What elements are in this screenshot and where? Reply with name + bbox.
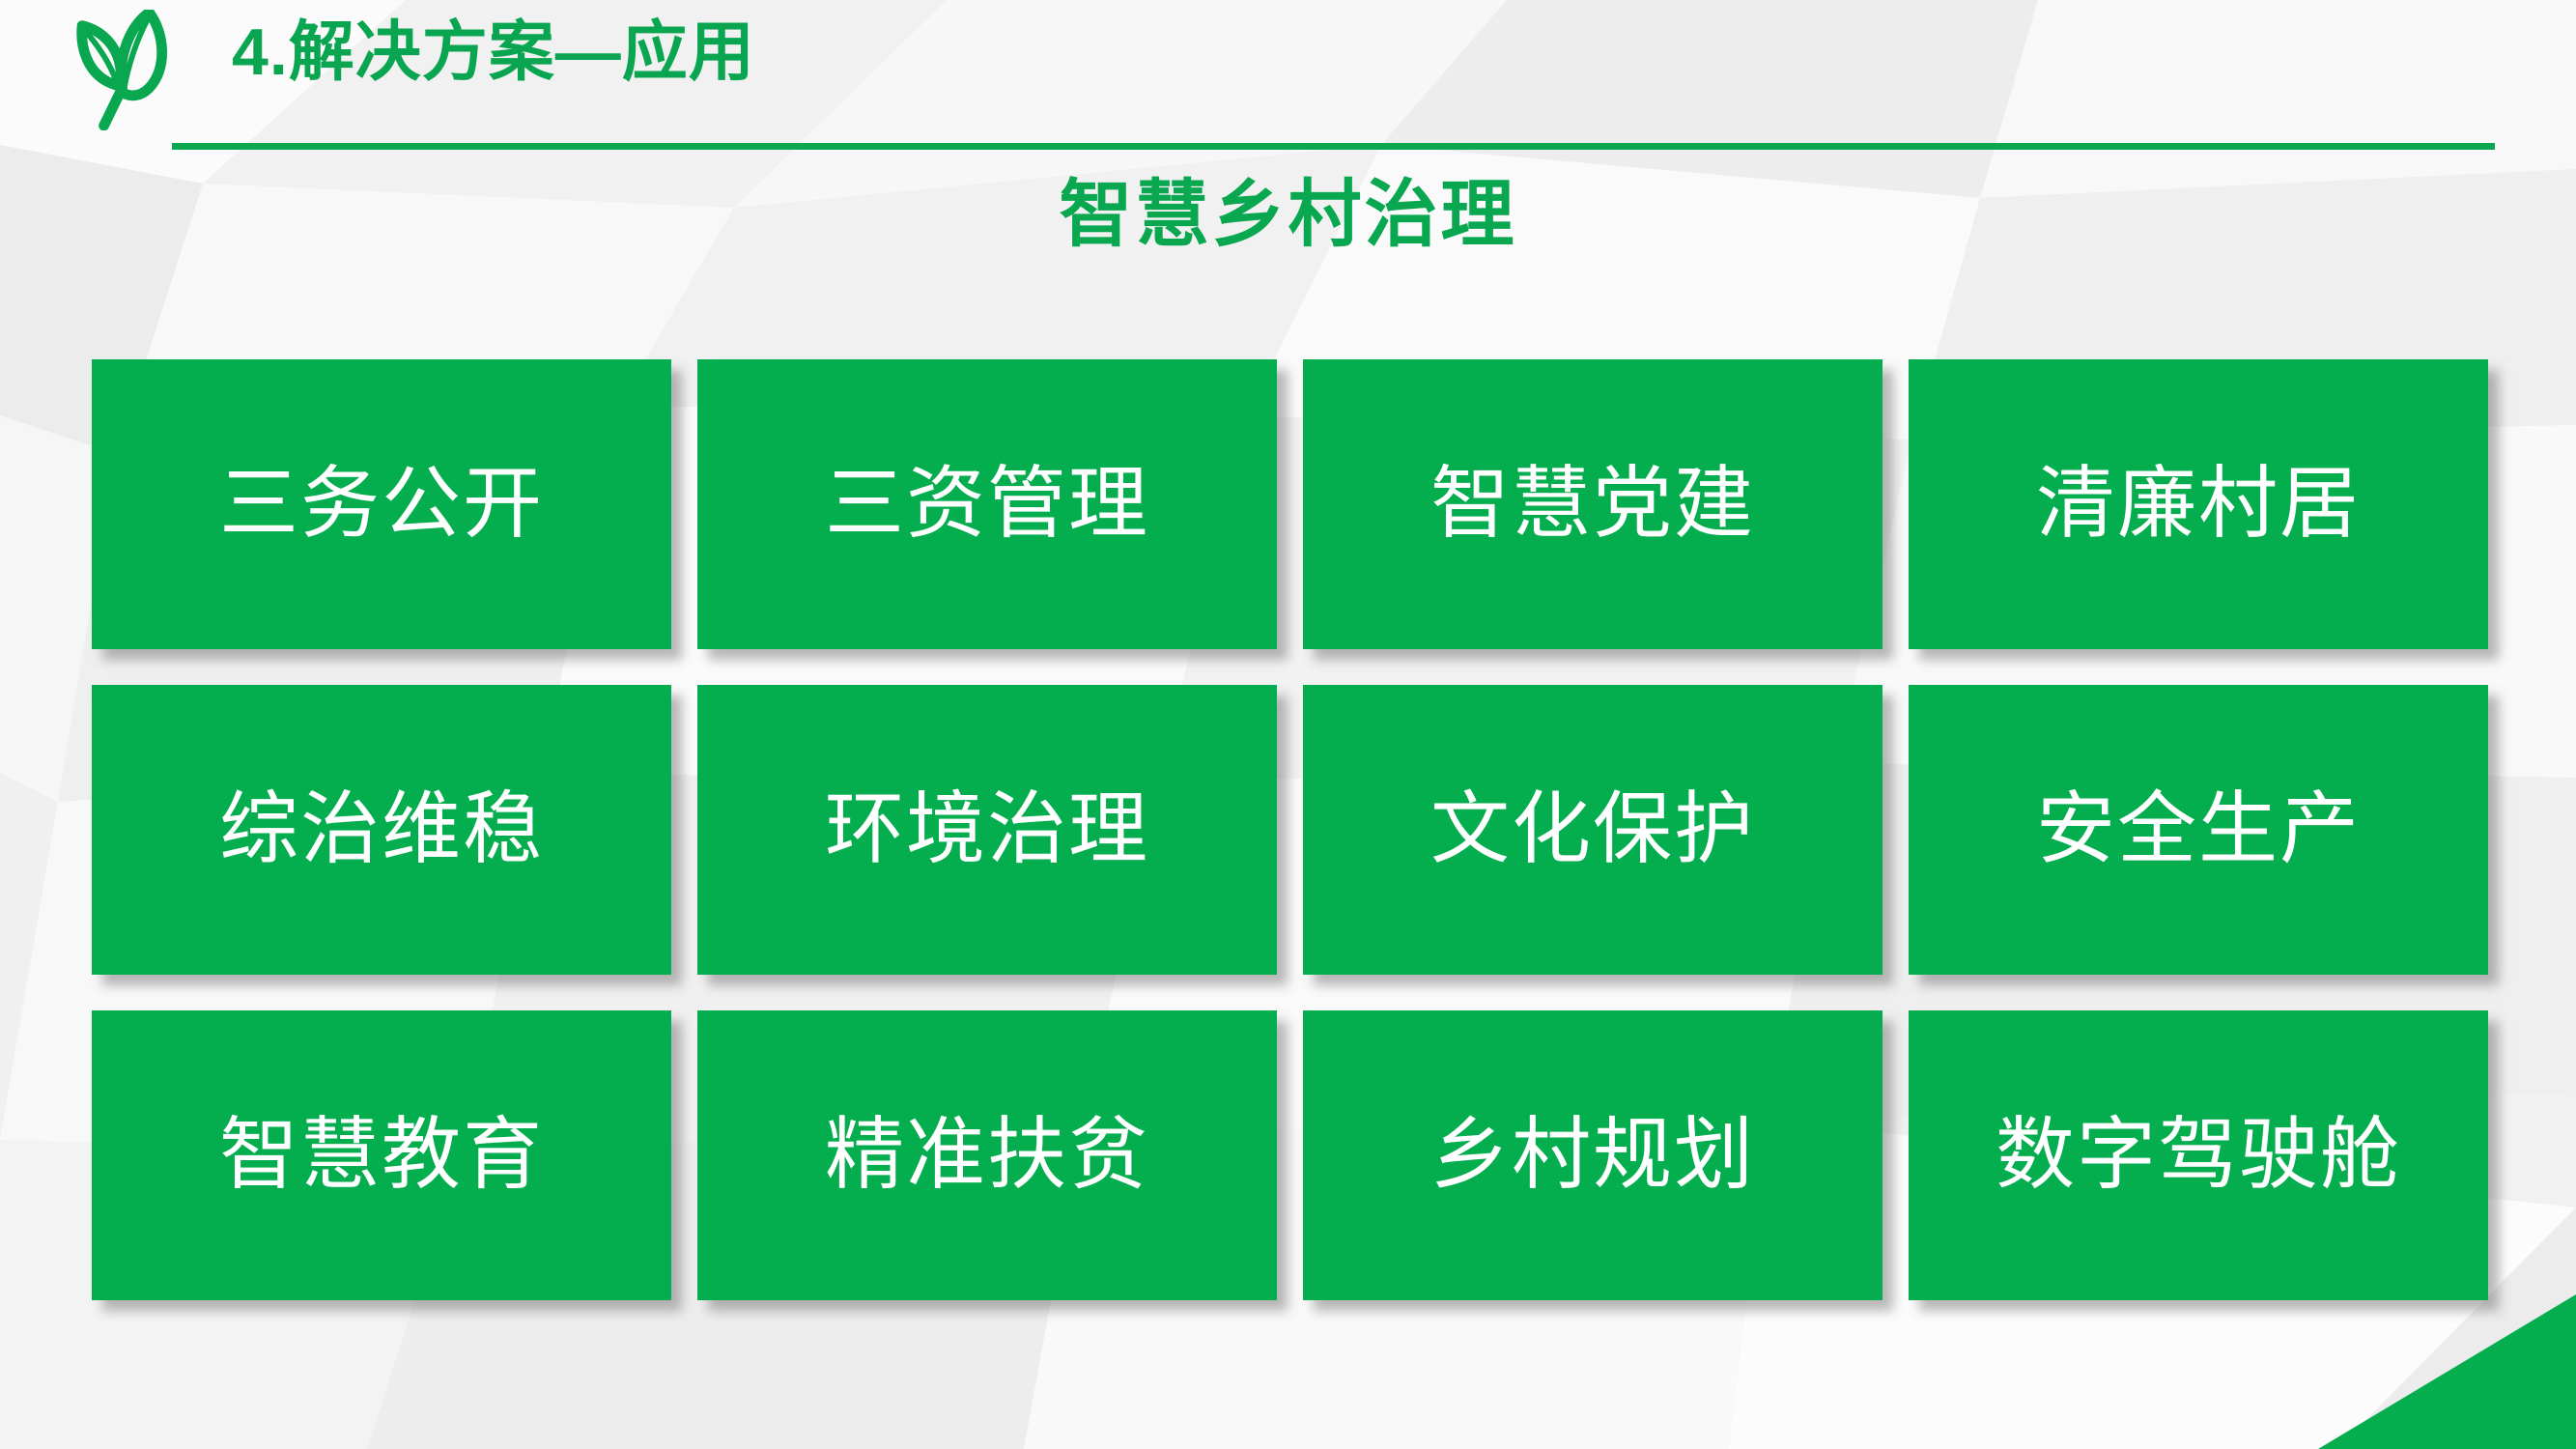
slide-canvas: 4.解决方案—应用 智慧乡村治理 三务公开 三资管理 智慧党建 清廉村居 综治维…	[0, 0, 2576, 1449]
tile-label: 安全生产	[2036, 790, 2361, 869]
tile-label: 精准扶贫	[825, 1116, 1149, 1195]
tile-huan-jing-zhi-li[interactable]: 环境治理	[697, 685, 1277, 975]
tile-zhi-hui-jiao-yu[interactable]: 智慧教育	[92, 1010, 671, 1300]
leaf-icon	[70, 10, 184, 130]
tile-label: 文化保护	[1430, 790, 1755, 869]
tile-san-wu-gong-kai[interactable]: 三务公开	[92, 359, 671, 649]
tile-san-zi-guan-li[interactable]: 三资管理	[697, 359, 1277, 649]
tile-zong-zhi-wei-wen[interactable]: 综治维稳	[92, 685, 671, 975]
tile-label: 数字驾驶舱	[1996, 1116, 2401, 1195]
tile-label: 智慧党建	[1430, 465, 1755, 544]
tile-label: 乡村规划	[1430, 1116, 1755, 1195]
tile-jing-zhun-fu-pin[interactable]: 精准扶贫	[697, 1010, 1277, 1300]
tile-xiang-cun-gui-hua[interactable]: 乡村规划	[1303, 1010, 1882, 1300]
header-divider	[172, 143, 2495, 150]
tile-wen-hua-bao-hu[interactable]: 文化保护	[1303, 685, 1882, 975]
tile-zhi-hui-dang-jian[interactable]: 智慧党建	[1303, 359, 1882, 649]
tile-label: 三资管理	[825, 465, 1149, 544]
tile-qing-lian-cun-ju[interactable]: 清廉村居	[1909, 359, 2488, 649]
tile-label: 智慧教育	[219, 1116, 544, 1195]
tile-label: 环境治理	[825, 790, 1149, 869]
slide-header: 4.解决方案—应用	[0, 0, 2576, 164]
section-title: 智慧乡村治理	[0, 179, 2576, 252]
tile-shu-zi-jia-shi-cang[interactable]: 数字驾驶舱	[1909, 1010, 2488, 1300]
page-title: 4.解决方案—应用	[232, 19, 755, 85]
tile-label: 清廉村居	[2036, 465, 2361, 544]
tile-label: 综治维稳	[219, 790, 544, 869]
tile-label: 三务公开	[219, 465, 544, 544]
tile-an-quan-sheng-chan[interactable]: 安全生产	[1909, 685, 2488, 975]
application-tile-grid: 三务公开 三资管理 智慧党建 清廉村居 综治维稳 环境治理 文化保护 安全生产 …	[92, 359, 2489, 1300]
